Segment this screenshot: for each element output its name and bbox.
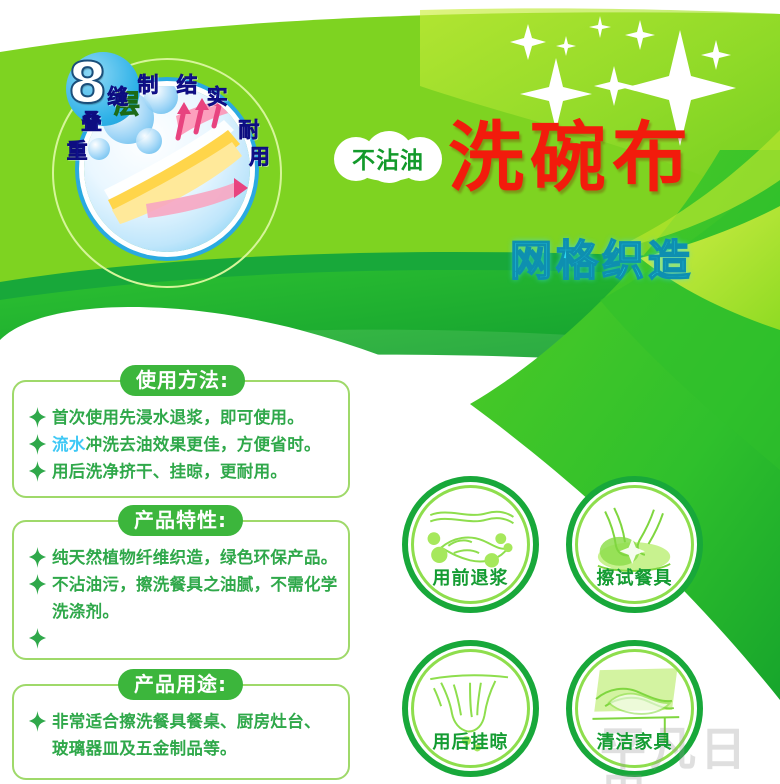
- star-bullet-icon: [28, 407, 47, 428]
- bullet-text: 不沾油污，擦洗餐具之油腻，不需化学: [52, 573, 338, 597]
- bullet-list: 首次使用先浸水退浆，即可使用。流水冲洗去油效果更佳，方便省时。用后洗净挤干、挂晾…: [28, 406, 338, 487]
- bullet-text: 流水冲洗去油效果更佳，方便省时。: [52, 433, 321, 457]
- bullet-indent-spacer: [28, 738, 47, 760]
- info-box: 产品特性:纯天然植物纤维织造，绿色环保产品。不沾油污，擦洗餐具之油腻，不需化学洗…: [12, 520, 350, 660]
- bullet-text-highlight: 流水: [52, 435, 86, 454]
- bullet-list: 纯天然植物纤维织造，绿色环保产品。不沾油污，擦洗餐具之油腻，不需化学洗涤剂。: [28, 546, 338, 652]
- badge-ring-char: 叠: [81, 106, 102, 136]
- usage-step-label: 擦试餐具: [572, 564, 697, 590]
- bullet-text: 洗涤剂。: [52, 600, 119, 624]
- nonstick-label: 不沾油: [334, 131, 442, 185]
- bullet-row: 非常适合擦洗餐具餐桌、厨房灶台、: [28, 710, 338, 734]
- star-bullet-icon: [28, 711, 47, 732]
- star-bullet-icon: [28, 547, 47, 568]
- usage-step-label: 清洁家具: [572, 728, 697, 754]
- bullet-text: 非常适合擦洗餐具餐桌、厨房灶台、: [52, 710, 321, 734]
- badge-ring-char: 用: [249, 141, 270, 171]
- badge-ring-char: 结: [177, 69, 198, 99]
- badge-ring-char: 重: [67, 135, 88, 165]
- info-box: 产品用途:非常适合擦洗餐具餐桌、厨房灶台、玻璃器皿及五金制品等。: [12, 684, 350, 780]
- badge-ring-char: 耐: [238, 114, 259, 144]
- usage-step-circle: 擦试餐具: [566, 476, 703, 613]
- bullet-text-segment: 非常适合擦洗餐具餐桌、厨房灶台、: [52, 712, 321, 731]
- usage-step-label: 用后挂晾: [408, 728, 533, 754]
- star-bullet-icon: [28, 628, 47, 649]
- bullet-row: 流水冲洗去油效果更佳，方便省时。: [28, 433, 338, 457]
- bullet-row: 不沾油污，擦洗餐具之油腻，不需化学: [28, 573, 338, 597]
- bullet-text: 首次使用先浸水退浆，即可使用。: [52, 406, 304, 430]
- bullet-row: 纯天然植物纤维织造，绿色环保产品。: [28, 546, 338, 570]
- star-bullet-icon: [28, 407, 47, 429]
- badge-ring-char: 实: [207, 81, 228, 111]
- star-bullet-icon: [28, 628, 47, 650]
- badge-ring-char: 制: [137, 69, 158, 99]
- bullet-list: 非常适合擦洗餐具餐桌、厨房灶台、玻璃器皿及五金制品等。: [28, 710, 338, 764]
- bullet-text-segment: 纯天然植物纤维织造，绿色环保产品。: [52, 548, 338, 567]
- bullet-text-segment: 冲洗去油效果更佳，方便省时。: [86, 435, 321, 454]
- star-bullet-icon: [28, 461, 47, 482]
- bubble-icon: [88, 138, 110, 160]
- usage-step-circle: 用前退浆: [402, 476, 539, 613]
- bullet-row: [28, 627, 338, 649]
- star-bullet-icon: [28, 434, 47, 456]
- bullet-row: 用后洗净挤干、挂晾，更耐用。: [28, 460, 338, 484]
- bullet-text: 用后洗净挤干、挂晾，更耐用。: [52, 460, 287, 484]
- usage-step-label: 用前退浆: [408, 564, 533, 590]
- bullet-text-segment: 不沾油污，擦洗餐具之油腻，不需化学: [52, 575, 338, 594]
- main-title: 洗碗布: [448, 120, 694, 196]
- bullet-text-segment: 首次使用先浸水退浆，即可使用。: [52, 408, 304, 427]
- star-bullet-icon: [28, 461, 47, 483]
- eight-layer-badge: 8 层 重叠缝制结实耐用: [52, 58, 282, 288]
- bullet-row: 首次使用先浸水退浆，即可使用。: [28, 406, 338, 430]
- info-box-title: 产品特性:: [118, 505, 243, 536]
- bullet-row: 洗涤剂。: [28, 600, 338, 624]
- bullet-text: 玻璃器皿及五金制品等。: [52, 737, 237, 761]
- badge-ring-char: 缝: [107, 81, 128, 111]
- nonstick-badge: 不沾油: [334, 131, 442, 185]
- usage-step-circle: 用后挂晾: [402, 640, 539, 777]
- star-bullet-icon: [28, 711, 47, 733]
- info-box: 使用方法:首次使用先浸水退浆，即可使用。流水冲洗去油效果更佳，方便省时。用后洗净…: [12, 380, 350, 498]
- sub-title: 网格织造: [510, 240, 694, 282]
- bullet-text: 纯天然植物纤维织造，绿色环保产品。: [52, 546, 338, 570]
- bullet-text-segment: 玻璃器皿及五金制品等。: [52, 739, 237, 758]
- badge-number: 8: [68, 56, 107, 112]
- info-box-title: 产品用途:: [118, 669, 243, 700]
- bubble-icon: [136, 128, 162, 154]
- product-poster: 8 层 重叠缝制结实耐用 不沾油 洗碗布 网格织造 使用方法:首次使用先浸水退浆…: [0, 0, 780, 784]
- star-bullet-icon: [28, 574, 47, 596]
- star-bullet-icon: [28, 434, 47, 455]
- bullet-row: 玻璃器皿及五金制品等。: [28, 737, 338, 761]
- star-bullet-icon: [28, 547, 47, 569]
- bullet-text-segment: 用后洗净挤干、挂晾，更耐用。: [52, 462, 287, 481]
- bullet-text-segment: 洗涤剂。: [52, 602, 119, 621]
- star-bullet-icon: [28, 574, 47, 595]
- bullet-indent-spacer: [28, 601, 47, 623]
- info-box-title: 使用方法:: [120, 365, 245, 396]
